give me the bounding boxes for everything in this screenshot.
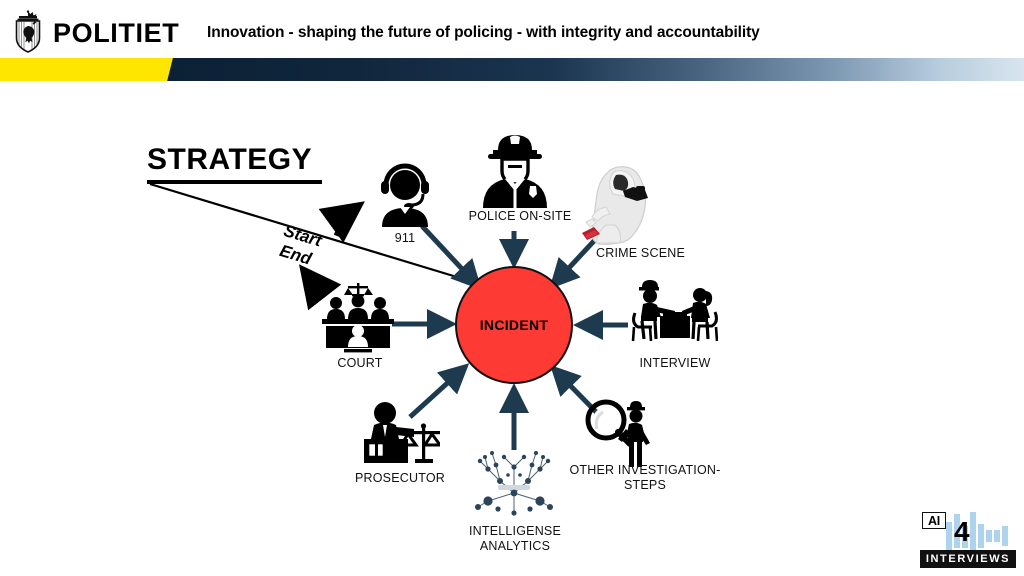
- waveform-bar: [986, 530, 992, 542]
- interview-table-icon: [630, 279, 718, 351]
- node-label-interview: INTERVIEW: [620, 356, 730, 371]
- node-label-intelligence: INTELLIGENSE ANALYTICS: [440, 524, 590, 554]
- strategy-underline: [147, 180, 322, 184]
- node-label-911: 911: [375, 231, 435, 246]
- node-label-prosecutor: PROSECUTOR: [344, 471, 456, 486]
- band-yellow: [0, 58, 166, 81]
- page-title: Innovation - shaping the future of polic…: [207, 24, 760, 42]
- forensic-investigator-icon: [578, 163, 666, 245]
- ai4interviews-logo: AI 4 INTERVIEWS: [920, 510, 1016, 568]
- waveform-bar: [970, 512, 976, 550]
- node-label-police: POLICE ON-SITE: [440, 209, 600, 224]
- page-header: POLITIET Innovation - shaping the future…: [0, 0, 1024, 58]
- waveform-bar: [1002, 526, 1008, 546]
- node-label-crime-scene: CRIME SCENE: [578, 246, 703, 261]
- brand-number: 4: [954, 518, 970, 546]
- prosecutor-scales-icon: [358, 401, 440, 469]
- magnifying-glass-detective-icon: [585, 399, 657, 467]
- waveform-bar: [978, 524, 984, 548]
- diagram-canvas: STRATEGY Start End INCIDENT 911 POLICE O…: [0, 81, 1024, 576]
- header-color-band: [0, 58, 1024, 81]
- police-officer-icon: [479, 128, 551, 208]
- incident-label: INCIDENT: [480, 317, 549, 333]
- org-name: POLITIET: [53, 18, 179, 48]
- node-label-other-steps: OTHER INVESTIGATION- STEPS: [560, 463, 730, 493]
- neural-network-icon: [468, 445, 560, 521]
- court-judges-icon: [320, 281, 396, 357]
- norwegian-police-coat-of-arms-icon: [8, 10, 48, 54]
- brand-word: INTERVIEWS: [920, 550, 1016, 568]
- node-label-court: COURT: [318, 356, 402, 371]
- band-gradient: [166, 58, 1024, 81]
- headset-operator-icon: [374, 161, 436, 227]
- start-arrow: [337, 207, 357, 236]
- waveform-bar: [946, 522, 952, 550]
- strategy-title: STRATEGY: [147, 143, 312, 177]
- incident-node[interactable]: INCIDENT: [455, 266, 573, 384]
- waveform-bar: [994, 530, 1000, 542]
- ai-badge: AI: [922, 512, 946, 529]
